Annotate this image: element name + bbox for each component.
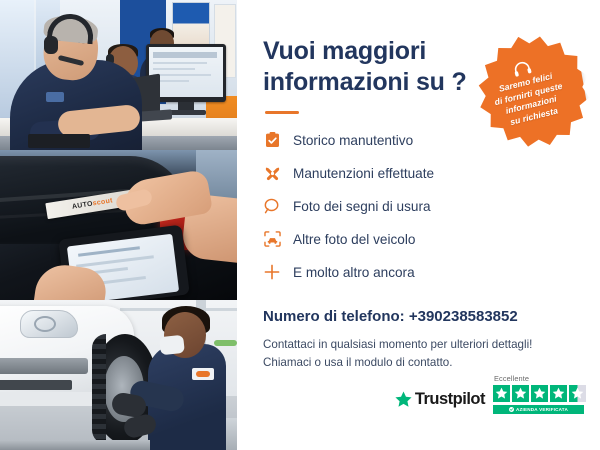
contact-line-1: Contattaci in qualsiasi momento per ulte…: [263, 336, 582, 354]
callout-badge: Saremo felici di fornirti queste informa…: [463, 27, 593, 157]
plus-icon: [263, 263, 281, 281]
feature-item-manutenzioni: Manutenzioni effettuate: [263, 159, 582, 187]
feature-label: Foto dei segni di usura: [293, 199, 431, 214]
star-2: [512, 385, 529, 402]
clipboard-check-icon: [263, 131, 281, 149]
phone-label: Numero di telefono:: [263, 308, 405, 325]
headline-line-2: informazioni su ?: [263, 68, 467, 96]
mechanic-wheel-photo: [0, 300, 237, 450]
feature-label: Altre foto del veicolo: [293, 232, 415, 247]
feature-list: Storico manutentivo Manutenzioni effettu…: [263, 126, 582, 286]
call-centre-photo: [0, 0, 237, 150]
car-inspection-photo: AUTOscout: [0, 150, 237, 300]
feature-item-foto-usura: Foto dei segni di usura: [263, 192, 582, 220]
contact-line-2: Chiamaci o usa il modulo di contatto.: [263, 354, 582, 372]
trustpilot-rating: Eccellente: [493, 374, 586, 414]
title-divider: [265, 111, 299, 114]
trustpilot-star-icon: [395, 391, 412, 408]
headline-line-1: Vuoi maggiori: [263, 37, 426, 65]
star-5-half: [569, 385, 586, 402]
star-4: [550, 385, 567, 402]
phone-line: Numero di telefono: +390238583852: [263, 308, 582, 325]
trustpilot-wordmark: Trustpilot: [415, 390, 485, 409]
photo-column: AUTOscout: [0, 0, 237, 450]
star-1: [493, 385, 510, 402]
trustpilot-widget[interactable]: Trustpilot Eccellente: [395, 374, 586, 414]
feature-label: E molto altro ancora: [293, 265, 415, 280]
tools-cross-icon: [263, 164, 281, 182]
page-title: Vuoi maggiori informazioni su ?: [263, 36, 473, 97]
content-panel: Saremo felici di fornirti queste informa…: [237, 0, 600, 450]
feature-label: Manutenzioni effettuate: [293, 166, 434, 181]
trustpilot-stars: [493, 385, 586, 402]
car-scan-icon: [263, 230, 281, 248]
feature-item-altro-ancora: E molto altro ancora: [263, 258, 582, 286]
verified-label: AZIENDA VERIFICATA: [516, 407, 568, 412]
trustpilot-brand: Trustpilot: [395, 390, 485, 414]
verified-badge: AZIENDA VERIFICATA: [493, 405, 584, 414]
trustpilot-rating-label: Eccellente: [494, 374, 586, 383]
star-3: [531, 385, 548, 402]
feature-label: Storico manutentivo: [293, 133, 413, 148]
magnifier-icon: [263, 197, 281, 215]
contact-text: Contattaci in qualsiasi momento per ulte…: [263, 336, 582, 372]
check-circle-icon: [509, 407, 514, 412]
phone-number[interactable]: +390238583852: [409, 308, 518, 325]
feature-item-altre-foto: Altre foto del veicolo: [263, 225, 582, 253]
promo-banner: AUTOscout: [0, 0, 600, 450]
